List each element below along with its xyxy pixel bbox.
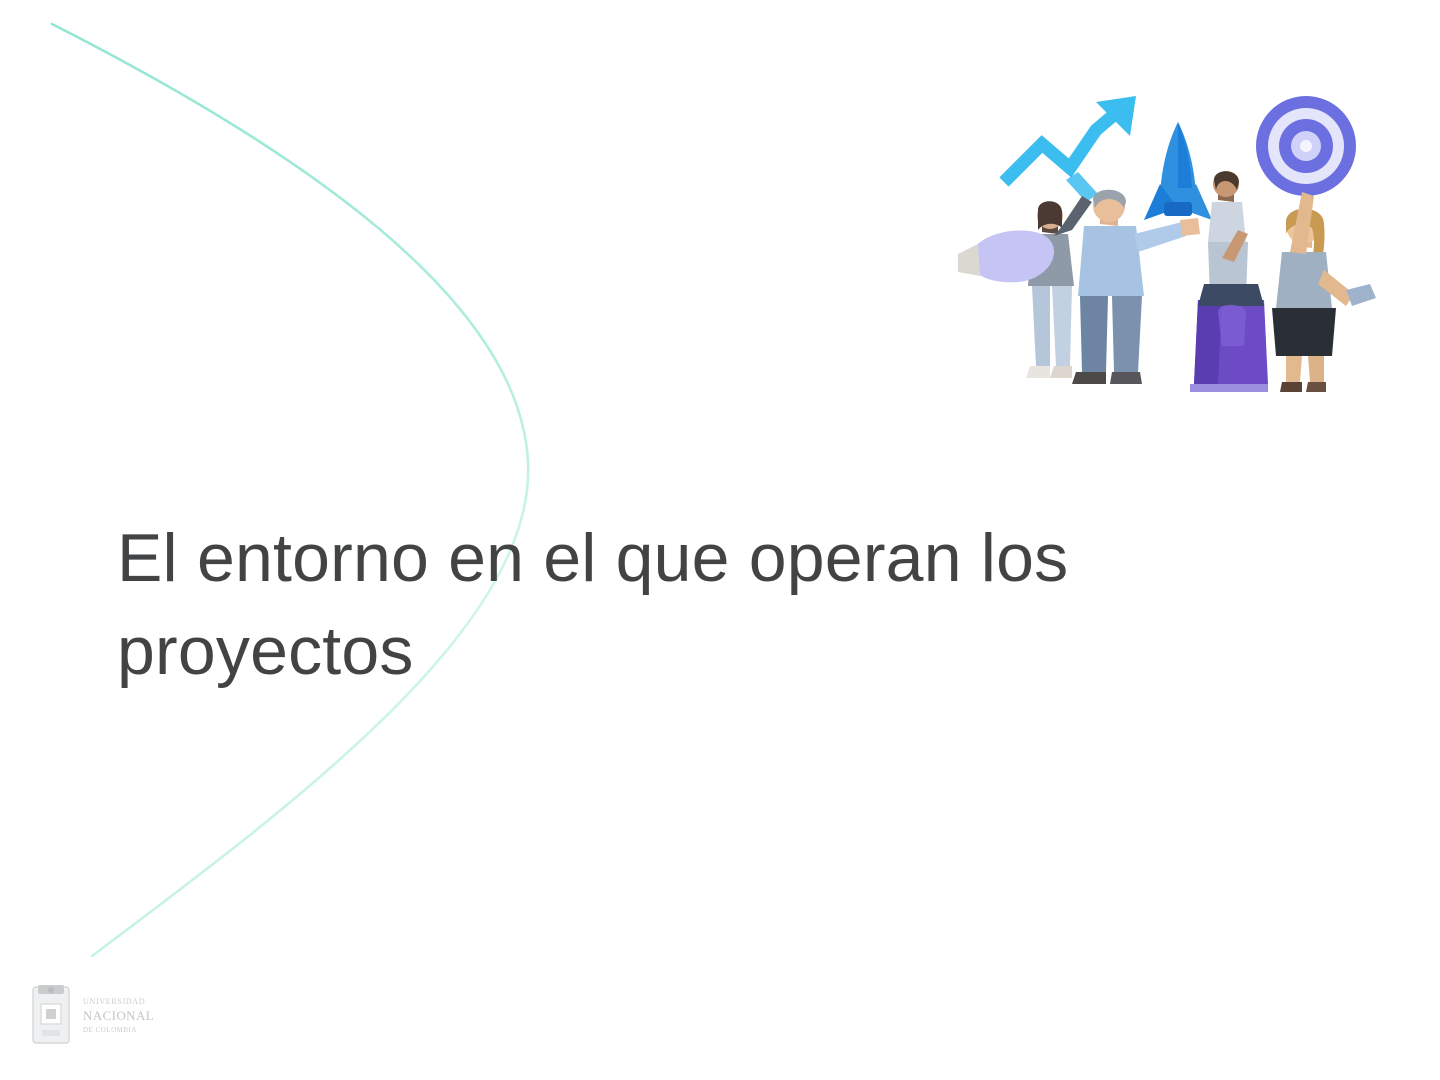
target-bullseye-icon: [1256, 96, 1356, 196]
title-line-2: proyectos: [117, 605, 1297, 698]
person-woman-right: [1272, 192, 1376, 392]
page-title: El entorno en el que operan los proyecto…: [117, 512, 1297, 698]
university-logo: UNIVERSIDAD NACIONAL DE COLOMBIA: [28, 984, 154, 1046]
person-man-center: [1072, 190, 1200, 384]
logo-line-1: UNIVERSIDAD: [83, 997, 154, 1006]
growth-arrow-icon: [1004, 96, 1136, 202]
logo-line-3: DE COLOMBIA: [83, 1026, 154, 1034]
business-team-goals-illustration: [946, 84, 1402, 396]
logo-wordmark: UNIVERSIDAD NACIONAL DE COLOMBIA: [83, 997, 154, 1034]
logo-line-2: NACIONAL: [83, 1008, 154, 1024]
presentation-slide: El entorno en el que operan los proyecto…: [0, 0, 1440, 1080]
title-line-1: El entorno en el que operan los: [117, 512, 1297, 605]
shield-crest-icon: [28, 984, 74, 1046]
person-woman-left: [958, 196, 1092, 378]
rocket-icon: [1144, 122, 1212, 220]
